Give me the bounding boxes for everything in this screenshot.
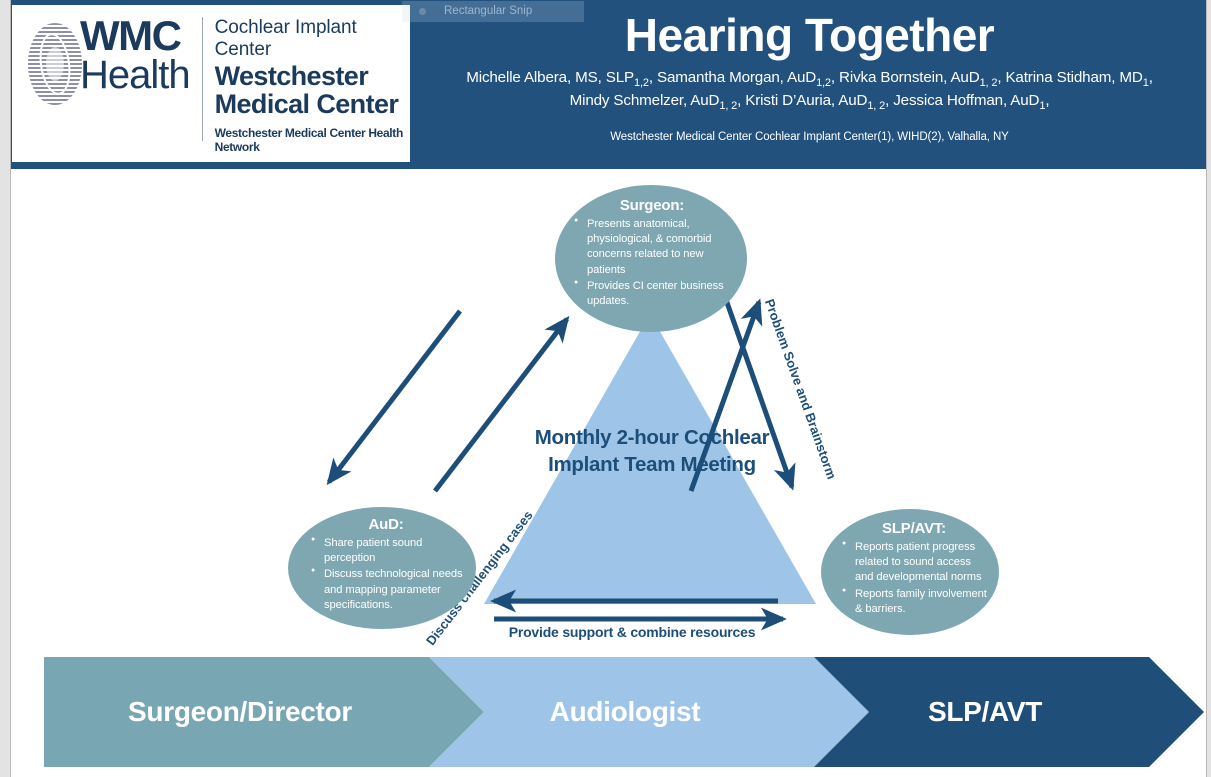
node-aud-title: AuD: bbox=[308, 516, 464, 533]
center-meeting-text: Monthly 2-hour Cochlear Implant Team Mee… bbox=[516, 424, 788, 479]
arrow-label-bottom: Provide support & combine resources bbox=[459, 624, 805, 640]
wmc-cochlea-mark-icon bbox=[24, 21, 86, 107]
chevron-slp-avt[interactable]: SLP/AVT bbox=[814, 657, 1204, 767]
node-slp-avt-bullet-2: Reports family involvement & barriers. bbox=[855, 587, 989, 617]
node-surgeon-bullet-1: Presents anatomical, physiological, & co… bbox=[587, 217, 733, 278]
wmc-health-logo: WMC Health Cochlear Implant Center Westc… bbox=[11, 4, 411, 163]
node-aud[interactable]: AuD: Share patient sound perception Disc… bbox=[288, 507, 476, 629]
header-text-block: Hearing Together Michelle Albera, MS, SL… bbox=[412, 0, 1207, 169]
logo-org-lines: Cochlear Implant Center Westchester Medi… bbox=[215, 15, 404, 154]
node-surgeon-title: Surgeon: bbox=[571, 197, 733, 214]
chevron-slp-avt-label: SLP/AVT bbox=[928, 696, 1042, 728]
node-surgeon-bullet-2: Provides CI center business updates. bbox=[587, 279, 733, 309]
arrow-left-down bbox=[329, 311, 460, 482]
logo-wordmark: WMC Health bbox=[80, 17, 190, 94]
chevron-surgeon-director[interactable]: Surgeon/Director bbox=[44, 657, 484, 767]
poster-canvas: WMC Health Cochlear Implant Center Westc… bbox=[10, 0, 1207, 777]
chevron-audiologist-label: Audiologist bbox=[550, 696, 701, 728]
logo-line-cochlear-implant-center: Cochlear Implant Center bbox=[215, 17, 404, 61]
logo-line-health-network: Westchester Medical Center Health Networ… bbox=[215, 126, 404, 154]
logo-line-westchester-medical-center: Westchester Medical Center bbox=[215, 62, 404, 119]
author-list: Michelle Albera, MS, SLP1,2, Samantha Mo… bbox=[465, 68, 1155, 114]
node-slp-avt-bullet-1: Reports patient progress related to soun… bbox=[855, 540, 989, 586]
chevron-surgeon-director-label: Surgeon/Director bbox=[128, 696, 352, 728]
affiliation-line: Westchester Medical Center Cochlear Impl… bbox=[412, 131, 1207, 143]
logo-wmc-text: WMC bbox=[80, 17, 190, 56]
logo-health-text: Health bbox=[80, 56, 190, 94]
node-surgeon[interactable]: Surgeon: Presents anatomical, physiologi… bbox=[555, 185, 747, 332]
logo-divider bbox=[202, 17, 203, 141]
node-slp-avt[interactable]: SLP/AVT: Reports patient progress relate… bbox=[821, 509, 999, 635]
node-aud-bullet-2: Discuss technological needs and mapping … bbox=[324, 567, 464, 613]
poster-header: WMC Health Cochlear Implant Center Westc… bbox=[11, 0, 1207, 169]
role-chevron-bar: Surgeon/Director Audiologist SLP/AVT bbox=[44, 657, 1204, 767]
rectangular-snip-overlay[interactable]: Rectangular Snip bbox=[402, 1, 584, 22]
node-slp-avt-title: SLP/AVT: bbox=[839, 520, 989, 537]
rectangular-snip-label: Rectangular Snip bbox=[444, 5, 532, 17]
record-dot-icon bbox=[419, 8, 426, 15]
node-aud-bullet-1: Share patient sound perception bbox=[324, 536, 464, 566]
chevron-audiologist[interactable]: Audiologist bbox=[429, 657, 869, 767]
